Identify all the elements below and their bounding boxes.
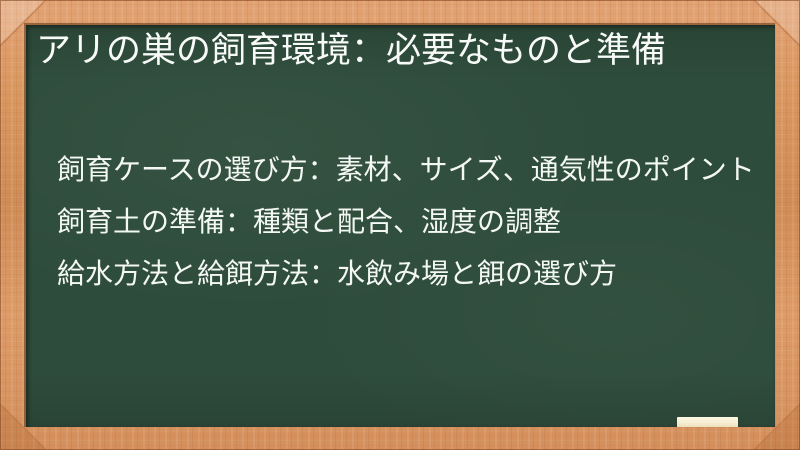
chalkboard-slide: アリの巣の飼育環境：必要なものと準備 飼育ケースの選び方：素材、サイズ、通気性の… xyxy=(0,0,800,450)
bullet-item-1: 飼育ケースの選び方：素材、サイズ、通気性のポイント xyxy=(57,150,757,190)
slide-title: アリの巣の飼育環境：必要なものと準備 xyxy=(36,28,752,75)
bullet-list: 飼育ケースの選び方：素材、サイズ、通気性のポイント 飼育土の準備：種類と配合、湿… xyxy=(57,150,757,294)
bullet-item-2: 飼育土の準備：種類と配合、湿度の調整 xyxy=(57,202,757,242)
bullet-item-3: 給水方法と給餌方法：水飲み場と餌の選び方 xyxy=(57,254,757,294)
chalk-stick xyxy=(677,417,738,427)
chalkboard-surface: アリの巣の飼育環境：必要なものと準備 飼育ケースの選び方：素材、サイズ、通気性の… xyxy=(26,25,775,427)
